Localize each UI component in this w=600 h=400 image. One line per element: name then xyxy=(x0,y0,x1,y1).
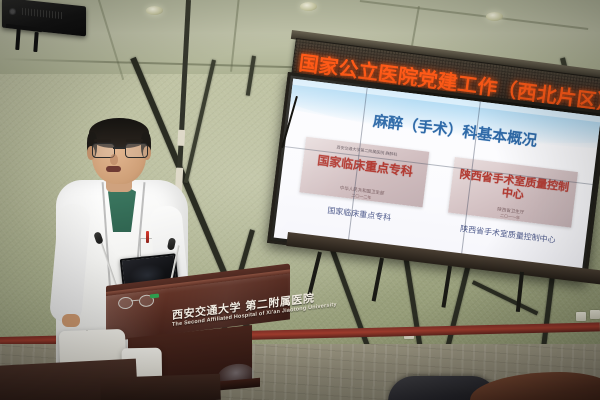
wall-outlet xyxy=(576,312,586,321)
wall-outlet xyxy=(590,310,600,319)
ceiling-light xyxy=(300,2,317,11)
eyebrow xyxy=(94,139,111,142)
ceiling-light xyxy=(486,12,503,21)
eyeglasses-on-lectern[interactable] xyxy=(118,294,153,308)
foreground-table-secondary xyxy=(100,374,221,400)
plaque-right: 陕西省手术室质量控制中心 陕西省卫生厅 二〇一一年 xyxy=(448,157,578,228)
eyebrow xyxy=(126,139,143,142)
glasses-bridge xyxy=(113,147,125,149)
hand xyxy=(62,314,80,327)
mouth xyxy=(106,166,121,172)
projector-body xyxy=(2,0,86,36)
ceiling-light xyxy=(146,6,163,15)
pen-icon xyxy=(146,231,149,243)
eyeglasses-icon xyxy=(92,143,146,157)
ceiling-projector xyxy=(2,2,88,38)
glasses-lens xyxy=(125,143,148,158)
glasses-bridge xyxy=(131,300,139,302)
nose xyxy=(110,154,118,165)
photo-scene: 国家公立医院党建工作（西北片区）座谈会 麻醉（手术）科基本概况 西安交通大学第二… xyxy=(0,0,600,400)
projector-lens-icon xyxy=(8,8,17,15)
plaque-left: 西安交通大学第二附属医院 麻醉科 国家临床重点专科 中华人民共和国卫生部 二〇一… xyxy=(299,137,429,208)
